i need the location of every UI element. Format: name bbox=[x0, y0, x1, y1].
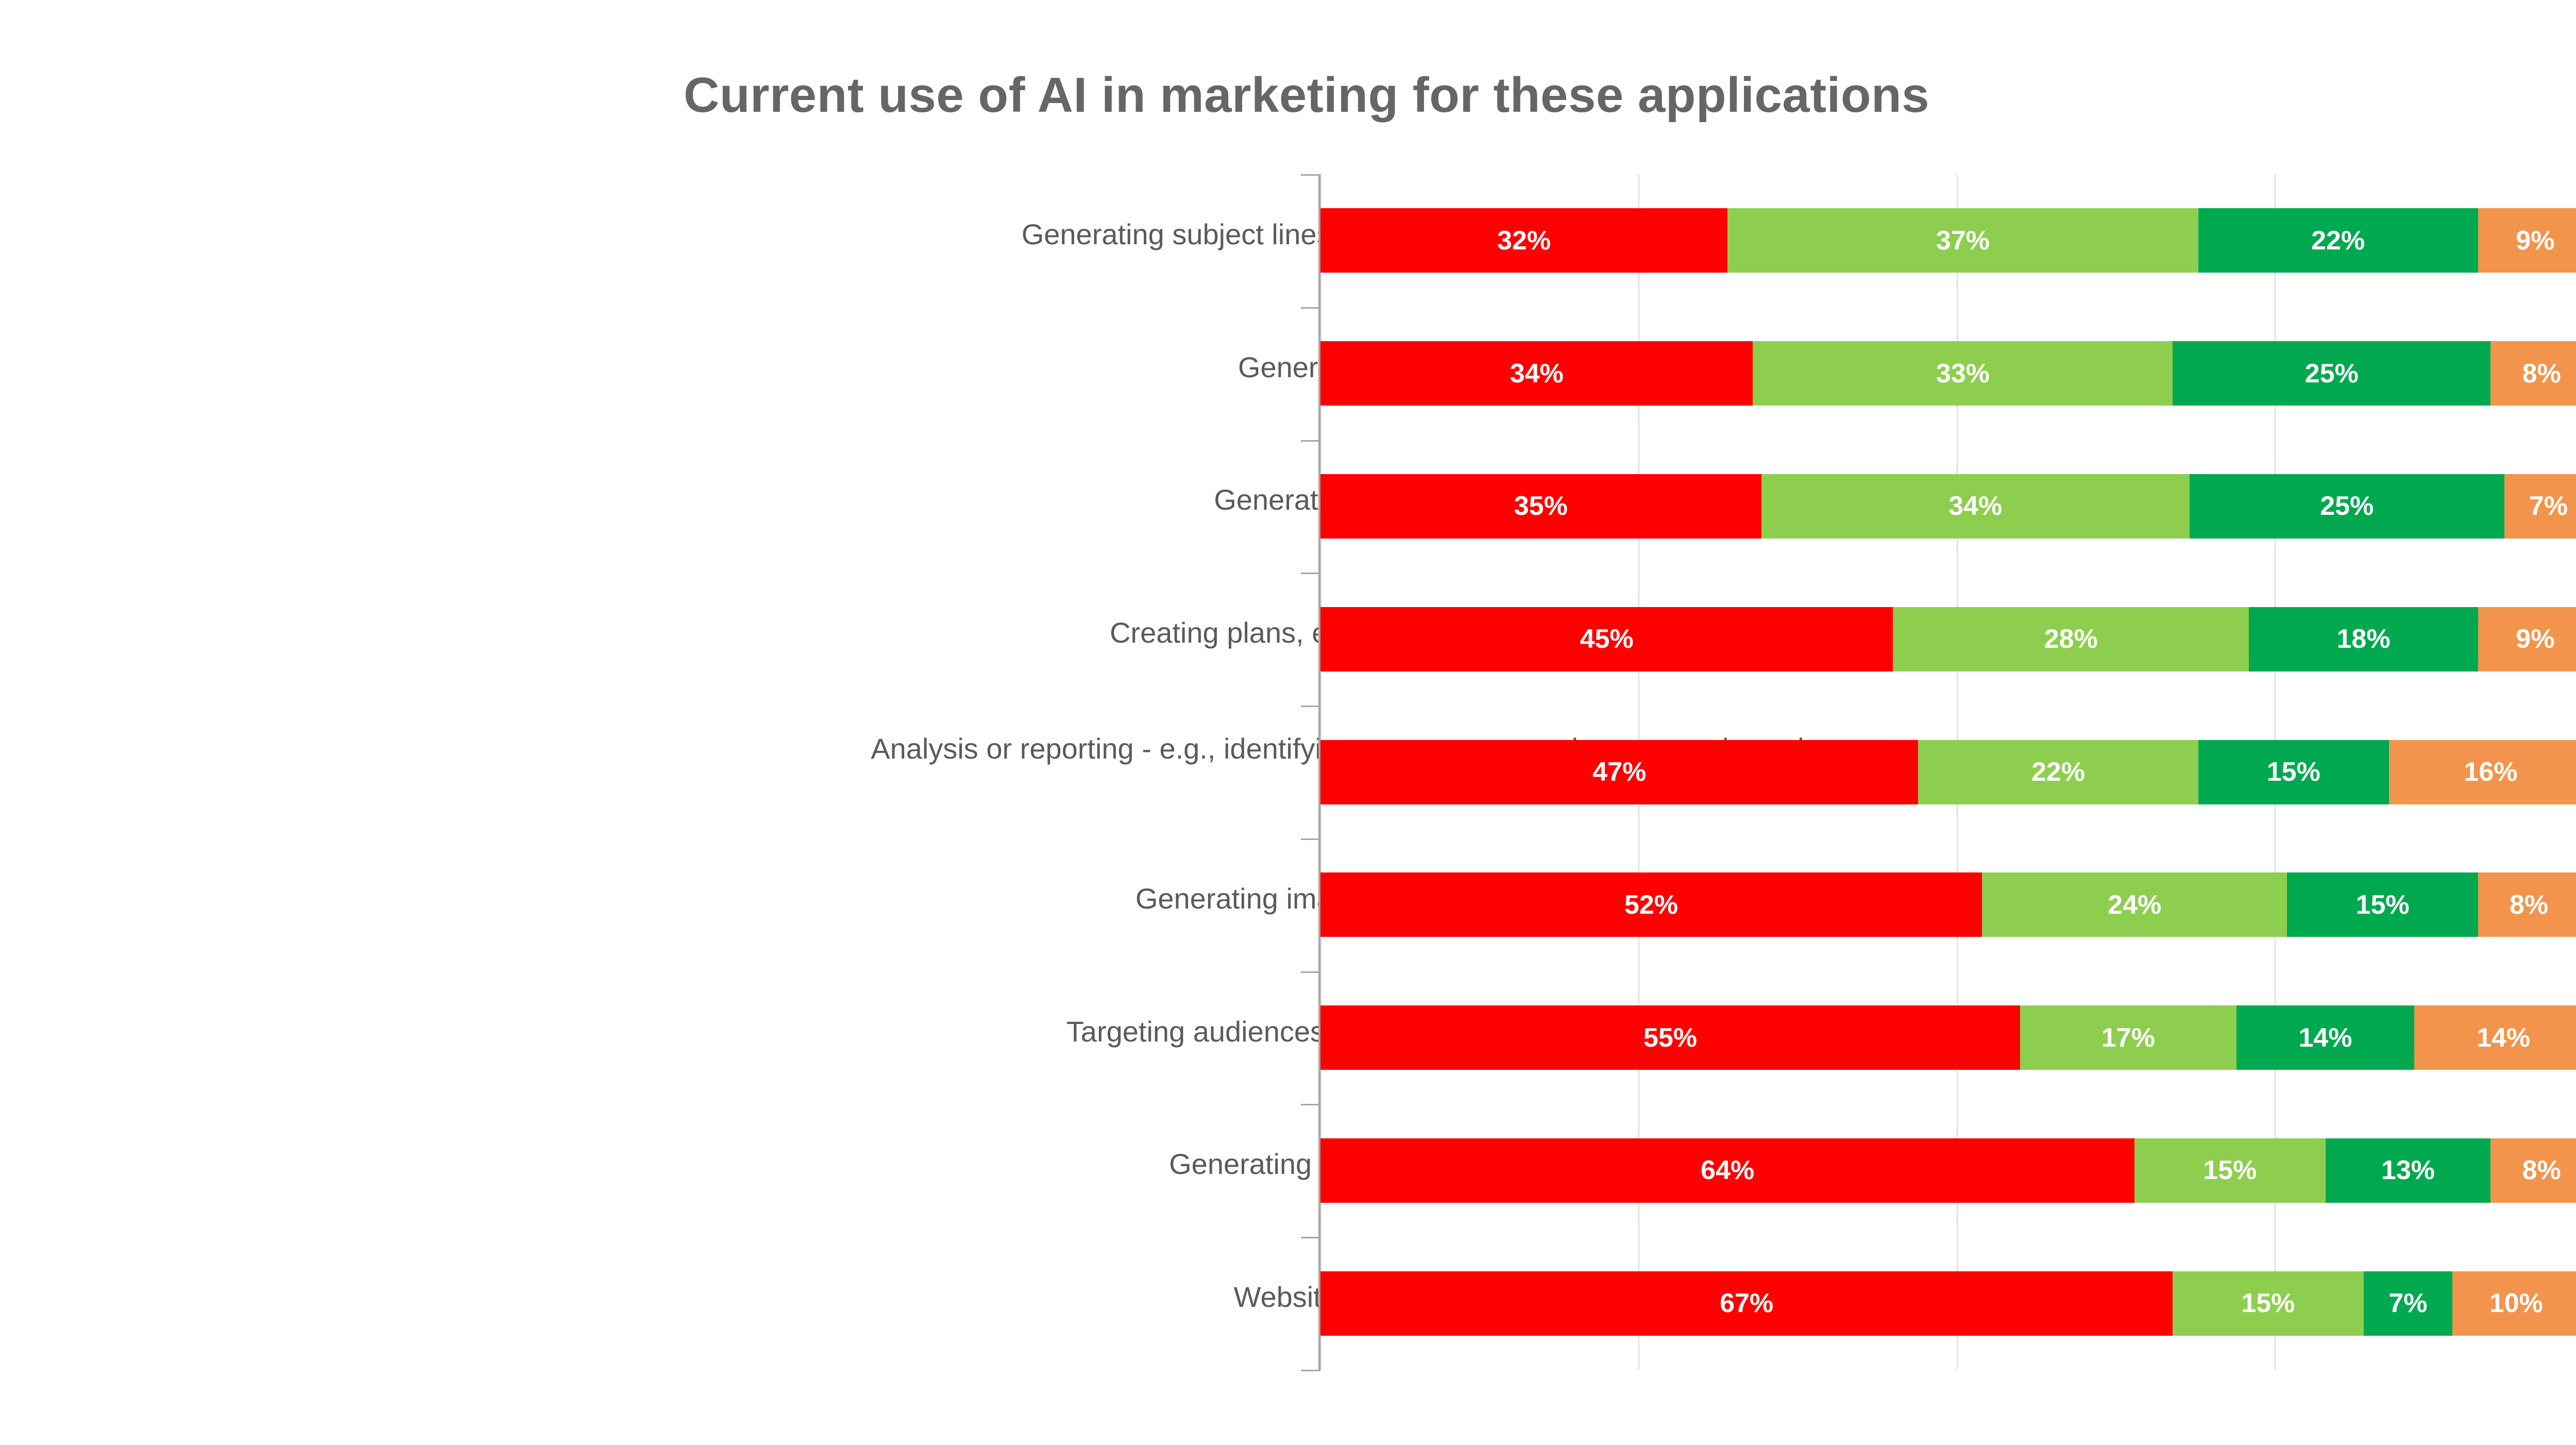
bar-segment[interactable]: 8% bbox=[2490, 1138, 2576, 1203]
bar-segment[interactable]: 35% bbox=[1320, 474, 1761, 539]
bar-segment[interactable]: 34% bbox=[1320, 341, 1753, 406]
bar-segment-value: 16% bbox=[2464, 759, 2517, 785]
bar-segment-value: 52% bbox=[1624, 892, 1678, 918]
bar-segment[interactable]: 9% bbox=[2478, 208, 2576, 273]
bar-segment-value: 13% bbox=[2381, 1157, 2435, 1184]
bar-segment-value: 25% bbox=[2320, 493, 2374, 519]
bar-segment[interactable]: 16% bbox=[2389, 740, 2576, 804]
chart-title: Current use of AI in marketing for these… bbox=[0, 67, 2576, 124]
stacked-bar-row: 35%34%25%7% bbox=[1320, 474, 2576, 539]
bar-segment-value: 34% bbox=[1948, 493, 2002, 519]
bar-segment-value: 25% bbox=[2305, 360, 2359, 387]
bar-segment-value: 34% bbox=[1510, 360, 1564, 387]
stacked-bar-row: 47%22%15%16% bbox=[1320, 740, 2576, 804]
bar-segment-value: 14% bbox=[2298, 1024, 2352, 1051]
stacked-bar-row: 32%37%22%9% bbox=[1320, 208, 2576, 273]
bar-segment[interactable]: 34% bbox=[1761, 474, 2190, 539]
bar-segment-value: 7% bbox=[2529, 493, 2568, 519]
bar-segment[interactable]: 47% bbox=[1320, 740, 1918, 804]
axis-tick bbox=[1301, 1104, 1320, 1105]
bar-segment-value: 8% bbox=[2510, 892, 2548, 918]
bar-segment-value: 55% bbox=[1643, 1024, 1697, 1051]
bar-segment[interactable]: 55% bbox=[1320, 1005, 2020, 1070]
bar-segment-value: 17% bbox=[2102, 1024, 2155, 1051]
chart-canvas: Current use of AI in marketing for these… bbox=[0, 0, 2576, 1445]
bar-segment[interactable]: 18% bbox=[2249, 607, 2478, 671]
bar-segment-value: 15% bbox=[2267, 759, 2320, 785]
bar-segment[interactable]: 25% bbox=[2190, 474, 2504, 539]
bar-segment-value: 18% bbox=[2337, 626, 2391, 652]
bar-segment[interactable]: 22% bbox=[1918, 740, 2198, 804]
axis-tick bbox=[1301, 573, 1320, 574]
bar-segment[interactable]: 45% bbox=[1320, 607, 1893, 671]
bar-segment[interactable]: 24% bbox=[1982, 872, 2287, 937]
bar-segment[interactable]: 22% bbox=[2198, 208, 2478, 273]
bar-segment-value: 45% bbox=[1580, 626, 1633, 652]
bar-segment[interactable]: 10% bbox=[2452, 1271, 2576, 1336]
bar-segment-value: 32% bbox=[1497, 227, 1551, 254]
bar-segment-value: 22% bbox=[2031, 759, 2085, 785]
stacked-bar-row: 45%28%18%9% bbox=[1320, 607, 2576, 671]
plot-area: 32%37%22%9%34%33%25%8%35%34%25%7%45%28%1… bbox=[1320, 174, 2576, 1370]
bar-segment-value: 15% bbox=[2356, 892, 2410, 918]
stacked-bar-row: 67%15%7%10% bbox=[1320, 1271, 2576, 1336]
axis-tick bbox=[1301, 307, 1320, 309]
bar-segment-value: 9% bbox=[2516, 227, 2554, 254]
bar-segment-value: 28% bbox=[2044, 626, 2098, 652]
bar-segment-value: 8% bbox=[2522, 360, 2561, 387]
bar-segment[interactable]: 33% bbox=[1753, 341, 2173, 406]
stacked-bar-row: 64%15%13%8% bbox=[1320, 1138, 2576, 1203]
bar-segment[interactable]: 17% bbox=[2020, 1005, 2236, 1070]
bar-segment[interactable]: 7% bbox=[2504, 474, 2576, 539]
bar-segment-value: 33% bbox=[1936, 360, 1990, 387]
bar-segment-value: 7% bbox=[2388, 1290, 2427, 1317]
bar-segment[interactable]: 25% bbox=[2173, 341, 2490, 406]
bar-segment[interactable]: 13% bbox=[2326, 1138, 2491, 1203]
bar-segment-value: 35% bbox=[1514, 493, 1568, 519]
bar-segment-value: 9% bbox=[2516, 626, 2554, 652]
bar-segment[interactable]: 15% bbox=[2134, 1138, 2325, 1203]
stacked-bar-row: 55%17%14%14% bbox=[1320, 1005, 2576, 1070]
bar-segment-value: 64% bbox=[1701, 1157, 1754, 1184]
bar-segment-value: 22% bbox=[2311, 227, 2365, 254]
bar-segment-value: 14% bbox=[2477, 1024, 2530, 1051]
bar-segment-value: 37% bbox=[1936, 227, 1990, 254]
bar-segment[interactable]: 15% bbox=[2173, 1271, 2363, 1336]
bar-segment[interactable]: 15% bbox=[2287, 872, 2478, 937]
bar-segment-value: 8% bbox=[2522, 1157, 2561, 1184]
bar-segment[interactable]: 8% bbox=[2490, 341, 2576, 406]
bar-segment[interactable]: 14% bbox=[2414, 1005, 2576, 1070]
bar-segment[interactable]: 67% bbox=[1320, 1271, 2173, 1336]
bar-segment[interactable]: 52% bbox=[1320, 872, 1982, 937]
axis-tick bbox=[1301, 705, 1320, 707]
axis-tick bbox=[1301, 838, 1320, 840]
bar-segment-value: 47% bbox=[1592, 759, 1646, 785]
axis-tick bbox=[1301, 174, 1320, 176]
bar-segment-value: 10% bbox=[2489, 1290, 2543, 1317]
bar-segment[interactable]: 7% bbox=[2364, 1271, 2453, 1336]
bar-segment[interactable]: 9% bbox=[2478, 607, 2576, 671]
bar-segment[interactable]: 37% bbox=[1727, 208, 2198, 273]
stacked-bar-row: 34%33%25%8% bbox=[1320, 341, 2576, 406]
bar-segment[interactable]: 14% bbox=[2236, 1005, 2415, 1070]
stacked-bar-row: 52%24%15%8% bbox=[1320, 872, 2576, 937]
axis-tick bbox=[1301, 1237, 1320, 1238]
bar-segment[interactable]: 28% bbox=[1893, 607, 2249, 671]
axis-tick bbox=[1301, 971, 1320, 973]
bar-segment-value: 24% bbox=[2108, 892, 2161, 918]
bar-segment-value: 15% bbox=[2203, 1157, 2257, 1184]
bar-segment[interactable]: 8% bbox=[2478, 872, 2576, 937]
axis-tick bbox=[1301, 1370, 1320, 1371]
axis-tick bbox=[1301, 440, 1320, 442]
bar-segment[interactable]: 32% bbox=[1320, 208, 1727, 273]
bar-segment[interactable]: 64% bbox=[1320, 1138, 2134, 1203]
bar-segment-value: 67% bbox=[1720, 1290, 1773, 1317]
bar-segment-value: 15% bbox=[2241, 1290, 2295, 1317]
bar-segment[interactable]: 15% bbox=[2198, 740, 2389, 804]
